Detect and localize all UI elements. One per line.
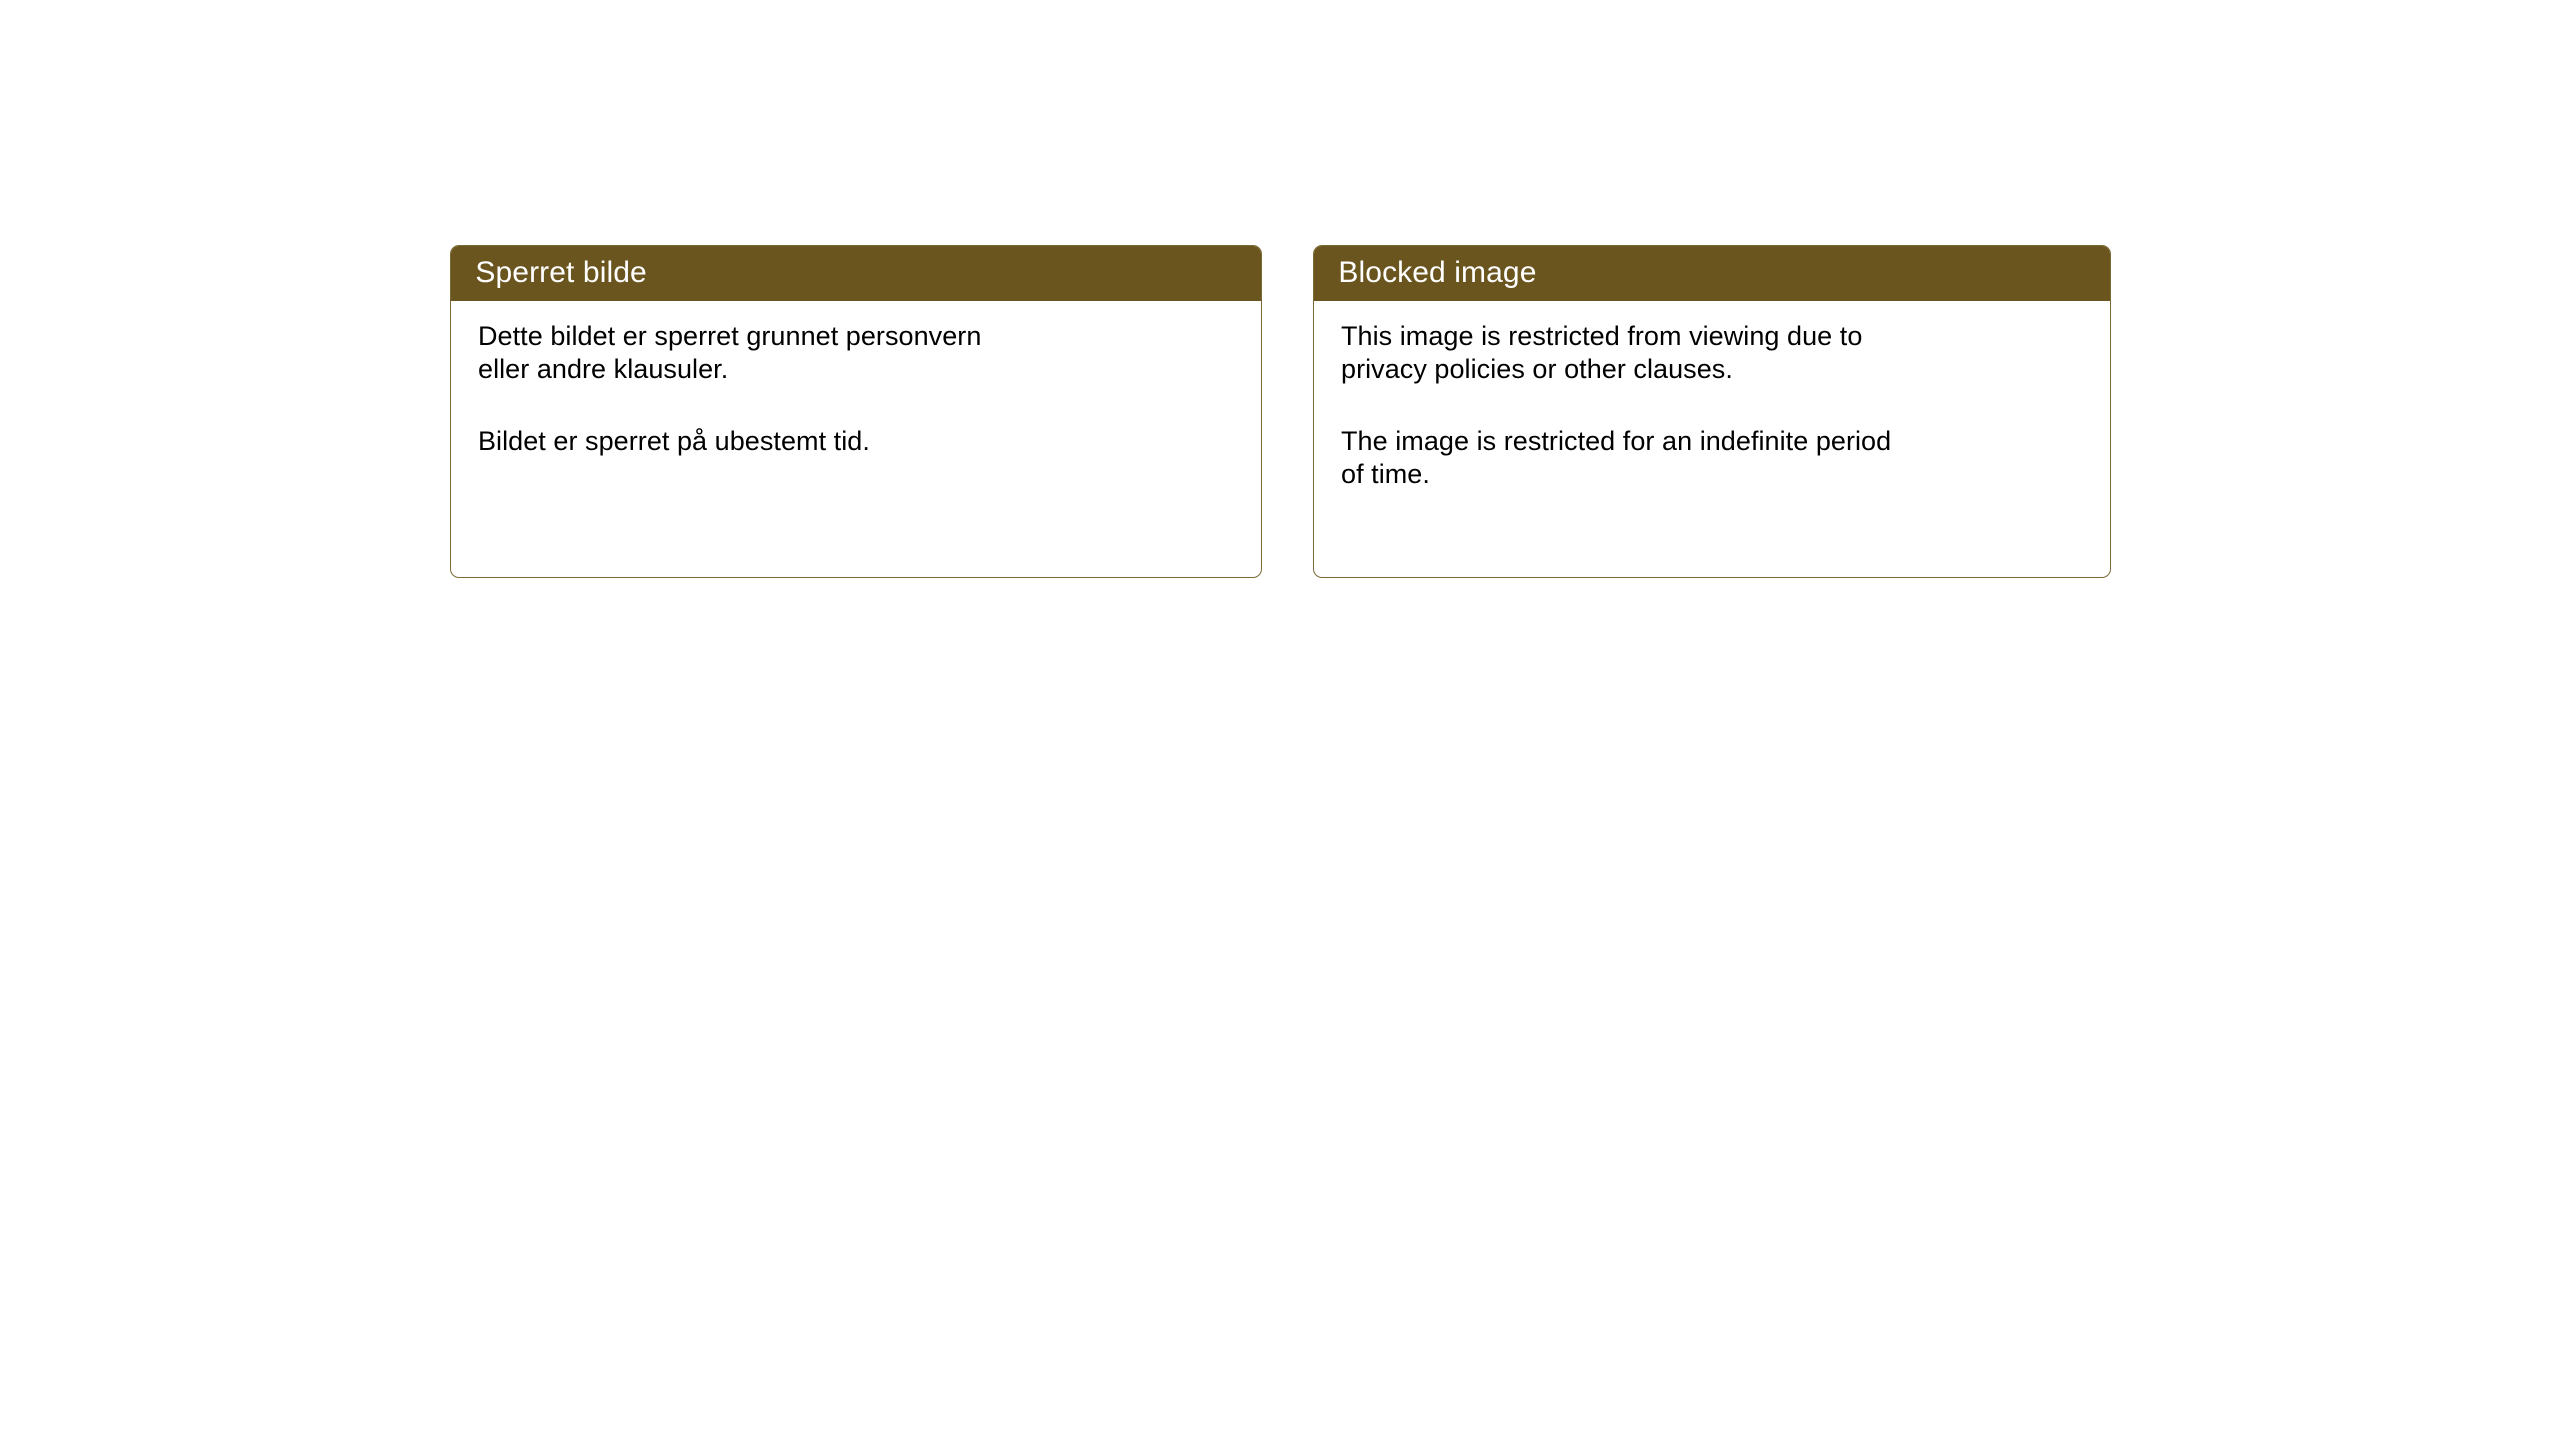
card-body-english: This image is restricted from viewing du… — [1314, 301, 2110, 488]
notice-line: Dette bildet er sperret grunnet personve… — [478, 323, 1235, 350]
page-canvas: Sperret bilde Dette bildet er sperret gr… — [0, 0, 2560, 1440]
notice-paragraph-reason-english: This image is restricted from viewing du… — [1341, 323, 2084, 383]
notice-line: eller andre klausuler. — [478, 356, 1235, 383]
notice-paragraph-reason-norwegian: Dette bildet er sperret grunnet personve… — [478, 323, 1235, 383]
blocked-image-card-english: Blocked image This image is restricted f… — [1313, 245, 2111, 578]
blocked-image-card-norwegian: Sperret bilde Dette bildet er sperret gr… — [450, 245, 1262, 578]
card-title-english: Blocked image — [1338, 258, 1536, 288]
card-title-norwegian: Sperret bilde — [475, 258, 646, 288]
notice-line: privacy policies or other clauses. — [1341, 356, 2084, 383]
card-body-norwegian: Dette bildet er sperret grunnet personve… — [451, 301, 1261, 455]
card-header-norwegian: Sperret bilde — [450, 245, 1262, 301]
notice-line: This image is restricted from viewing du… — [1341, 323, 2084, 350]
notice-line: of time. — [1341, 461, 2084, 488]
card-header-english: Blocked image — [1313, 245, 2111, 301]
notice-line: The image is restricted for an indefinit… — [1341, 428, 2084, 455]
notice-paragraph-duration-norwegian: Bildet er sperret på ubestemt tid. — [478, 428, 1235, 455]
notice-line: Bildet er sperret på ubestemt tid. — [478, 428, 1235, 455]
notice-paragraph-duration-english: The image is restricted for an indefinit… — [1341, 428, 2084, 488]
